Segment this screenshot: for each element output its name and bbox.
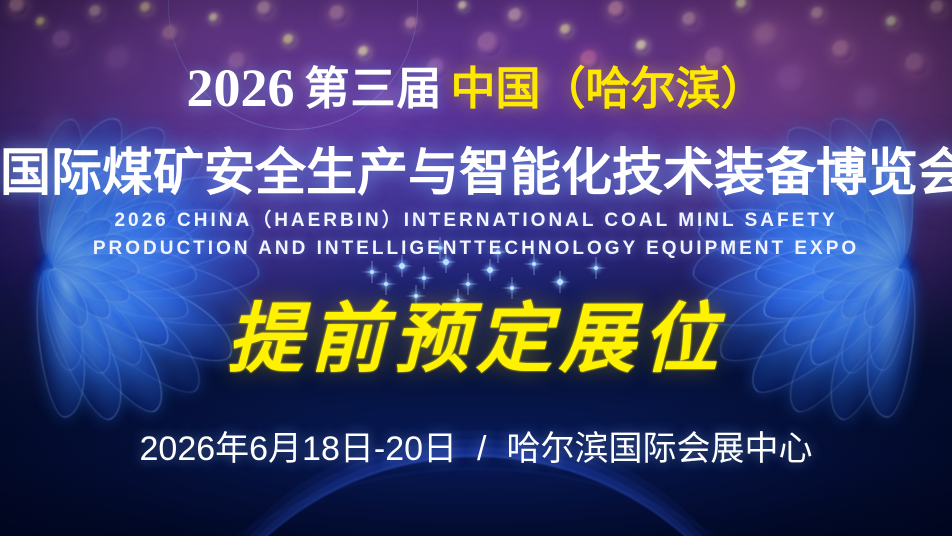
event-date: 2026年6月18日-20日 (140, 430, 458, 468)
page-title: 国际煤矿安全生产与智能化技术装备博览会 (0, 143, 952, 203)
poster-content: 2026第三届中国（哈尔滨） 国际煤矿安全生产与智能化技术装备博览会 2026 … (0, 0, 952, 536)
footer-separator: / (477, 430, 486, 468)
slogan-text: 提前预定展位 (0, 296, 952, 384)
title-city: 中国（哈尔滨） (451, 63, 766, 114)
title-line-one: 2026第三届中国（哈尔滨） (0, 58, 952, 118)
event-venue: 哈尔滨国际会展中心 (506, 430, 812, 468)
footer-info: 2026年6月18日-20日/哈尔滨国际会展中心 (0, 424, 952, 474)
title-ordinal: 第三届 (304, 63, 442, 114)
subtitle-english-line-one: 2026 CHINA（HAERBIN）INTERNATIONAL COAL MI… (0, 208, 952, 234)
title-year: 2026 (186, 58, 294, 118)
poster-canvas: 2026第三届中国（哈尔滨） 国际煤矿安全生产与智能化技术装备博览会 2026 … (0, 0, 952, 536)
subtitle-english-line-two: PRODUCTION AND INTELLIGENTTECHNOLOGY EQU… (0, 236, 952, 262)
